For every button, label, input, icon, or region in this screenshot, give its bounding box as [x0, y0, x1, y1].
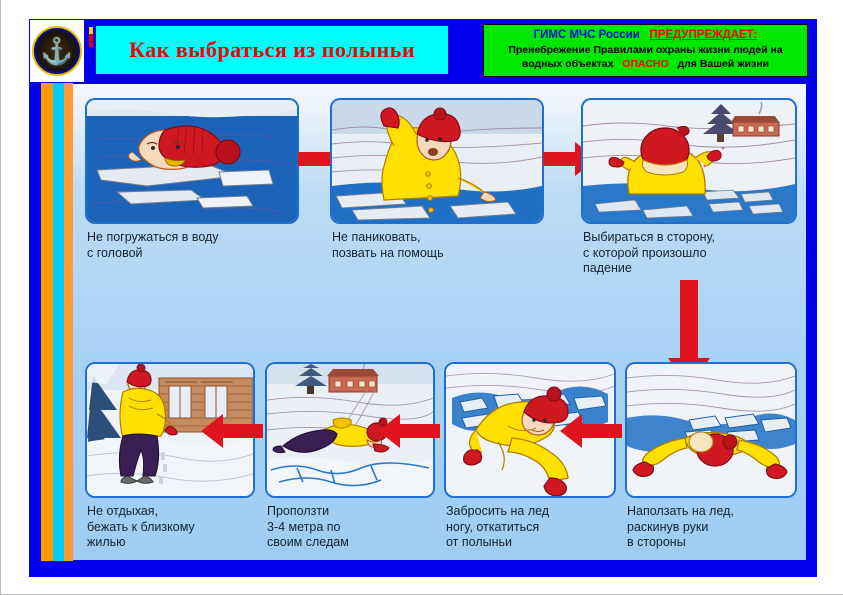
poster-title-box: Как выбраться из полыньи	[96, 26, 448, 74]
arrow-7-6-icon	[560, 414, 622, 448]
scene-back-turned-to-hole	[583, 100, 795, 222]
warning-body-suffix: для Вашей жизни	[677, 58, 769, 70]
anchor-glyph: ⚓	[41, 38, 73, 64]
step-caption-2: Не паниковать, позвать на помощь	[332, 230, 552, 261]
warning-verb: ПРЕДУПРЕЖДАЕТ:	[649, 29, 757, 41]
step-card-2	[330, 98, 544, 224]
poster-title: Как выбраться из полыньи	[96, 26, 448, 74]
scene-spread-arms-on-ice	[627, 364, 795, 496]
step-card-3	[581, 98, 797, 224]
step-caption-7: Наползать на лед, раскинув руки в сторон…	[627, 504, 807, 551]
step-caption-6: Забросить на лед ногу, откатиться от пол…	[446, 504, 626, 551]
poster-content: Не погружаться в воду с головой	[73, 84, 806, 560]
poster-root: ⚓ Как выбраться из полыньи ГИМС МЧС Росс…	[0, 0, 843, 595]
warning-headline: ГИМС МЧС России ПРЕДУПРЕЖДАЕТ:	[484, 28, 807, 43]
warning-box: ГИМС МЧС России ПРЕДУПРЕЖДАЕТ: Пренебреж…	[483, 24, 808, 77]
stripe-orange-inner	[64, 83, 73, 561]
step-caption-3: Выбираться в сторону, с которой произошл…	[583, 230, 798, 277]
anchor-emblem-icon: ⚓	[32, 26, 82, 76]
step-card-7	[625, 362, 797, 498]
step-card-1	[85, 98, 299, 224]
scene-waving-for-help	[332, 100, 542, 222]
warning-body-line1: Пренебрежение Правилами охраны жизни люд…	[484, 43, 807, 57]
step-caption-5: Проползти 3-4 метра по своим следам	[267, 504, 437, 551]
warning-body-prefix: водных объектах	[522, 58, 614, 70]
arrow-6-5-icon	[378, 414, 440, 448]
emblem-container: ⚓	[30, 20, 84, 82]
warning-danger-word: ОПАСНО	[622, 58, 668, 70]
warning-org: ГИМС МЧС России	[534, 29, 640, 41]
title-marker-icon	[89, 27, 93, 47]
scene-head-in-water	[87, 100, 297, 222]
arrow-5-4-icon	[201, 414, 263, 448]
step-caption-1: Не погружаться в воду с головой	[87, 230, 307, 261]
stripe-orange-outer	[41, 83, 53, 561]
stripe-cyan	[53, 83, 64, 561]
warning-body-line2: водных объектах ОПАСНО для Вашей жизни	[484, 57, 807, 71]
step-caption-4: Не отдыхая, бежать к близкому жилью	[87, 504, 257, 551]
